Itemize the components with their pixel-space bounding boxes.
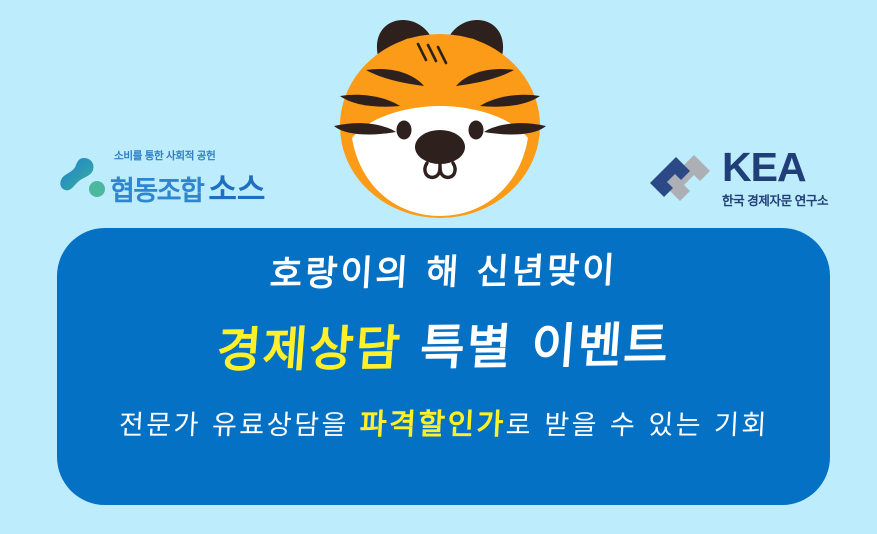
promo-eyebrow: 호랑이의 해 신년맞이	[269, 254, 618, 293]
promo-title: 경제상담 특별 이벤트	[215, 321, 672, 375]
promo-title-highlight: 경제상담	[215, 321, 404, 379]
kea-brand-text: KEA	[722, 149, 828, 187]
promo-title-rest: 특별 이벤트	[418, 317, 672, 376]
promo-card: 호랑이의 해 신년맞이 경제상담 특별 이벤트 전문가 유료상담을 파격할인가로…	[57, 228, 830, 505]
sauce-logo-name-secondary: 소스	[208, 164, 265, 209]
kea-subtitle: 한국 경제자문 연구소	[722, 190, 828, 209]
tiger-eye-left	[397, 121, 412, 140]
sauce-coop-logo: 소비를 통한 사회적 공헌 협동조합 소스	[58, 146, 290, 208]
sauce-logo-name-primary: 협동조합	[110, 169, 203, 208]
sauce-logo-tagline: 소비를 통한 사회적 공헌	[114, 148, 265, 163]
promo-sub-before: 전문가 유료상담을	[118, 410, 349, 441]
kea-logo: KEA 한국 경제자문 연구소	[645, 147, 867, 211]
promo-poster: 소비를 통한 사회적 공헌 협동조합 소스 KEA 한국 경제자문 연구소 호랑…	[0, 0, 877, 534]
promo-subtitle: 전문가 유료상담을 파격할인가로 받을 수 있는 기회	[118, 410, 769, 439]
tiger-mascot-illustration	[322, 8, 558, 220]
promo-sub-after: 로 받을 수 있는 기회	[505, 410, 770, 441]
tiger-eye-right	[469, 121, 484, 140]
promo-sub-highlight: 파격할인가	[359, 407, 507, 441]
kea-interlock-icon	[645, 151, 717, 207]
sauce-coop-dots-icon	[58, 153, 108, 201]
